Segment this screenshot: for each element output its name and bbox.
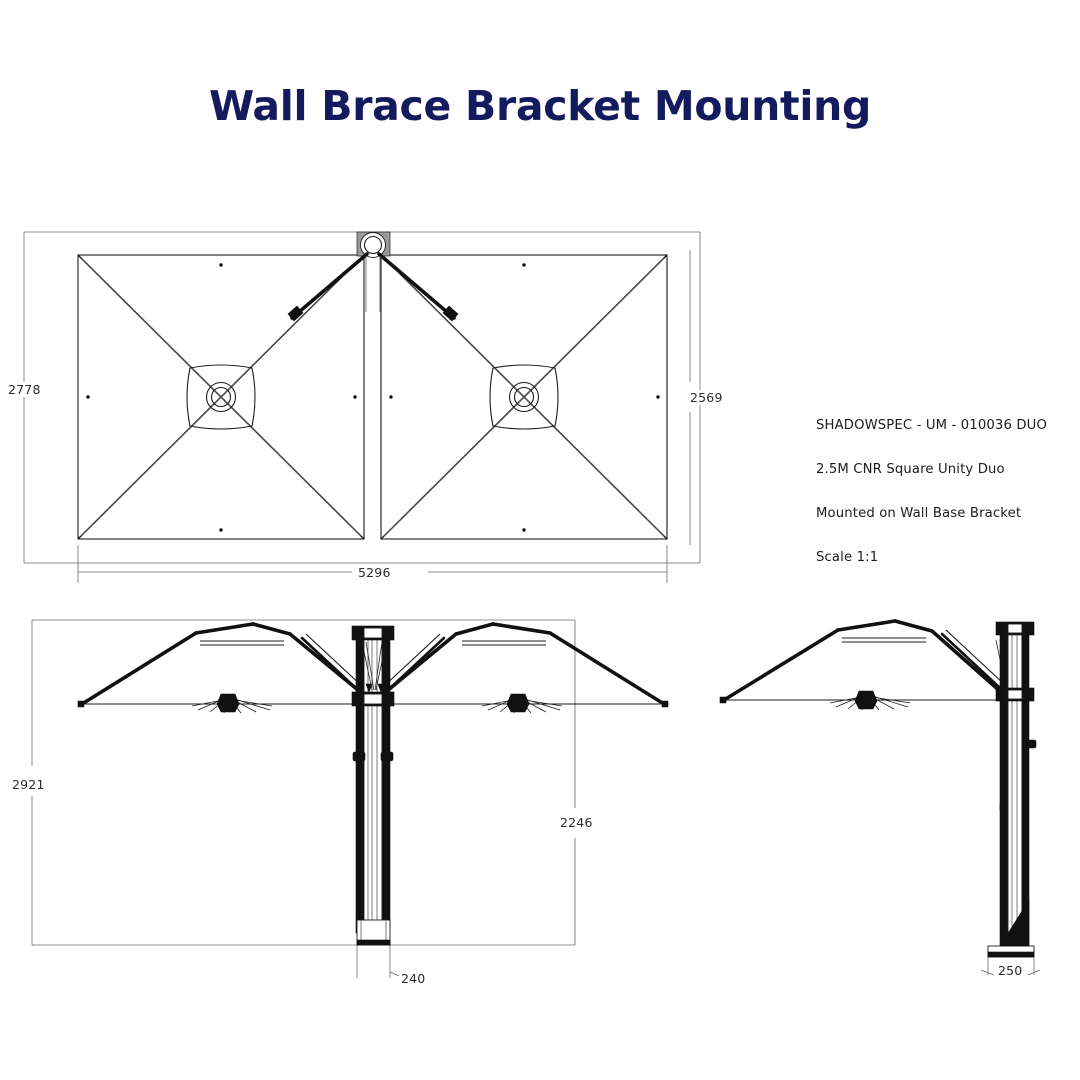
side-elevation-view — [720, 621, 1040, 975]
front-left-canopy — [78, 624, 370, 713]
spec-line-scale: Scale 1:1 — [816, 551, 1047, 566]
plan-wall-bracket-assembly — [288, 232, 458, 321]
drawing-page: Wall Brace Bracket Mounting .thin { fill… — [0, 0, 1080, 1080]
front-elevation-view — [32, 620, 668, 978]
side-brace-arm — [942, 630, 1008, 688]
plan-right-canopy — [381, 255, 667, 539]
side-dim-base-width: 250 — [996, 963, 1024, 978]
front-right-canopy — [376, 624, 668, 713]
front-dimension-frame — [32, 620, 575, 978]
plan-view — [24, 232, 700, 583]
side-canopy — [720, 621, 1012, 710]
spec-line-product: 2.5M CNR Square Unity Duo — [816, 463, 1047, 478]
front-dim-overall-height: 2921 — [10, 777, 47, 792]
front-mast — [352, 626, 394, 945]
plan-dimension-frame — [24, 232, 700, 583]
side-wall-post — [988, 622, 1036, 957]
plan-dim-right-height: 2569 — [688, 390, 725, 405]
specification-block: SHADOWSPEC - UM - 010036 DUO 2.5M CNR Sq… — [816, 390, 1047, 594]
plan-dim-left-height: 2778 — [6, 382, 43, 397]
spec-line-mounting: Mounted on Wall Base Bracket — [816, 507, 1047, 522]
plan-left-canopy — [78, 255, 364, 539]
plan-dim-bottom-width: 5296 — [356, 565, 393, 580]
front-dim-mast-height: 2246 — [558, 815, 595, 830]
front-dim-base-width: 240 — [399, 971, 427, 986]
spec-line-model: SHADOWSPEC - UM - 010036 DUO — [816, 419, 1047, 434]
